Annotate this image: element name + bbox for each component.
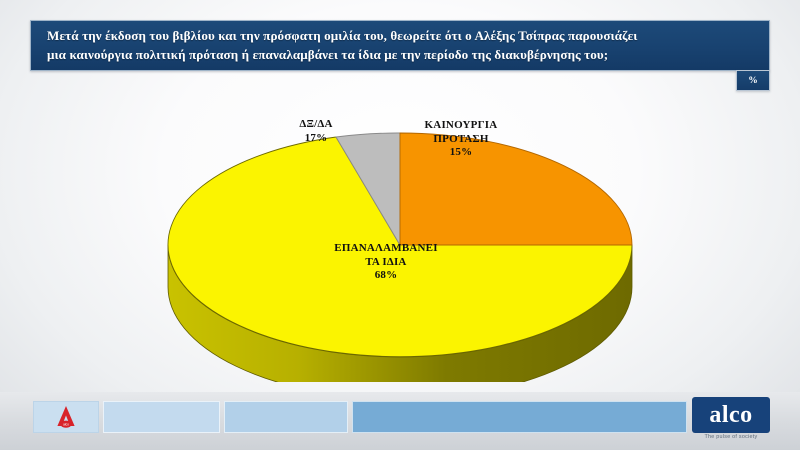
alco-a-mark-icon: alco — [56, 405, 76, 429]
alco-tagline: The pulse of society — [692, 434, 770, 440]
pie-label-epanalamvanei-line1: ΕΠΑΝΑΛΑΜΒΑΝΕΙ — [334, 242, 437, 254]
footer-segment-2 — [224, 401, 348, 433]
pie-value-kainourgia-protasi: 15% — [396, 146, 526, 160]
alco-logo-text: alco — [709, 403, 752, 427]
footer-segment-1 — [103, 401, 220, 433]
pie-label-epanalamvanei: ΕΠΑΝΑΛΑΜΒΑΝΕΙ ΤΑ ΙΔΙΑ 68% — [286, 242, 486, 283]
chart-area: ΚΑΙΝΟΥΡΓΙΑ ΠΡΟΤΑΣΗ 15% ΔΞ/ΔΑ 17% ΕΠΑΝΑΛΑ… — [0, 92, 800, 392]
question-text: Μετά την έκδοση του βιβλίου και την πρόσ… — [31, 27, 651, 64]
question-line-2: μια καινούργια πολιτική πρόταση ή επαναλ… — [47, 47, 608, 62]
alco-mark-tile: alco — [33, 401, 99, 433]
pie-label-kainourgia-protasi-line1: ΚΑΙΝΟΥΡΓΙΑ — [425, 119, 498, 131]
svg-text:alco: alco — [63, 423, 69, 427]
pie-label-epanalamvanei-line2: ΤΑ ΙΔΙΑ — [365, 256, 406, 268]
question-line-1: Μετά την έκδοση του βιβλίου και την πρόσ… — [47, 28, 637, 43]
pie-value-epanalamvanei: 68% — [286, 269, 486, 283]
pie-label-dx-da: ΔΞ/ΔΑ 17% — [262, 118, 370, 145]
pie-value-dx-da: 17% — [262, 132, 370, 146]
footer-segment-3 — [352, 401, 687, 433]
pie-label-kainourgia-protasi-line2: ΠΡΟΤΑΣΗ — [433, 133, 488, 145]
alco-logo: alco — [692, 397, 770, 433]
question-header-band: Μετά την έκδοση του βιβλίου και την πρόσ… — [30, 20, 770, 71]
footer-bar: alco alco The pulse of society — [0, 392, 800, 450]
pie-label-kainourgia-protasi: ΚΑΙΝΟΥΡΓΙΑ ΠΡΟΤΑΣΗ 15% — [396, 119, 526, 160]
pie-chart: ΚΑΙΝΟΥΡΓΙΑ ΠΡΟΤΑΣΗ 15% ΔΞ/ΔΑ 17% ΕΠΑΝΑΛΑ… — [158, 92, 642, 382]
percent-unit-badge: % — [736, 70, 770, 91]
pie-label-dx-da-line1: ΔΞ/ΔΑ — [299, 118, 332, 130]
